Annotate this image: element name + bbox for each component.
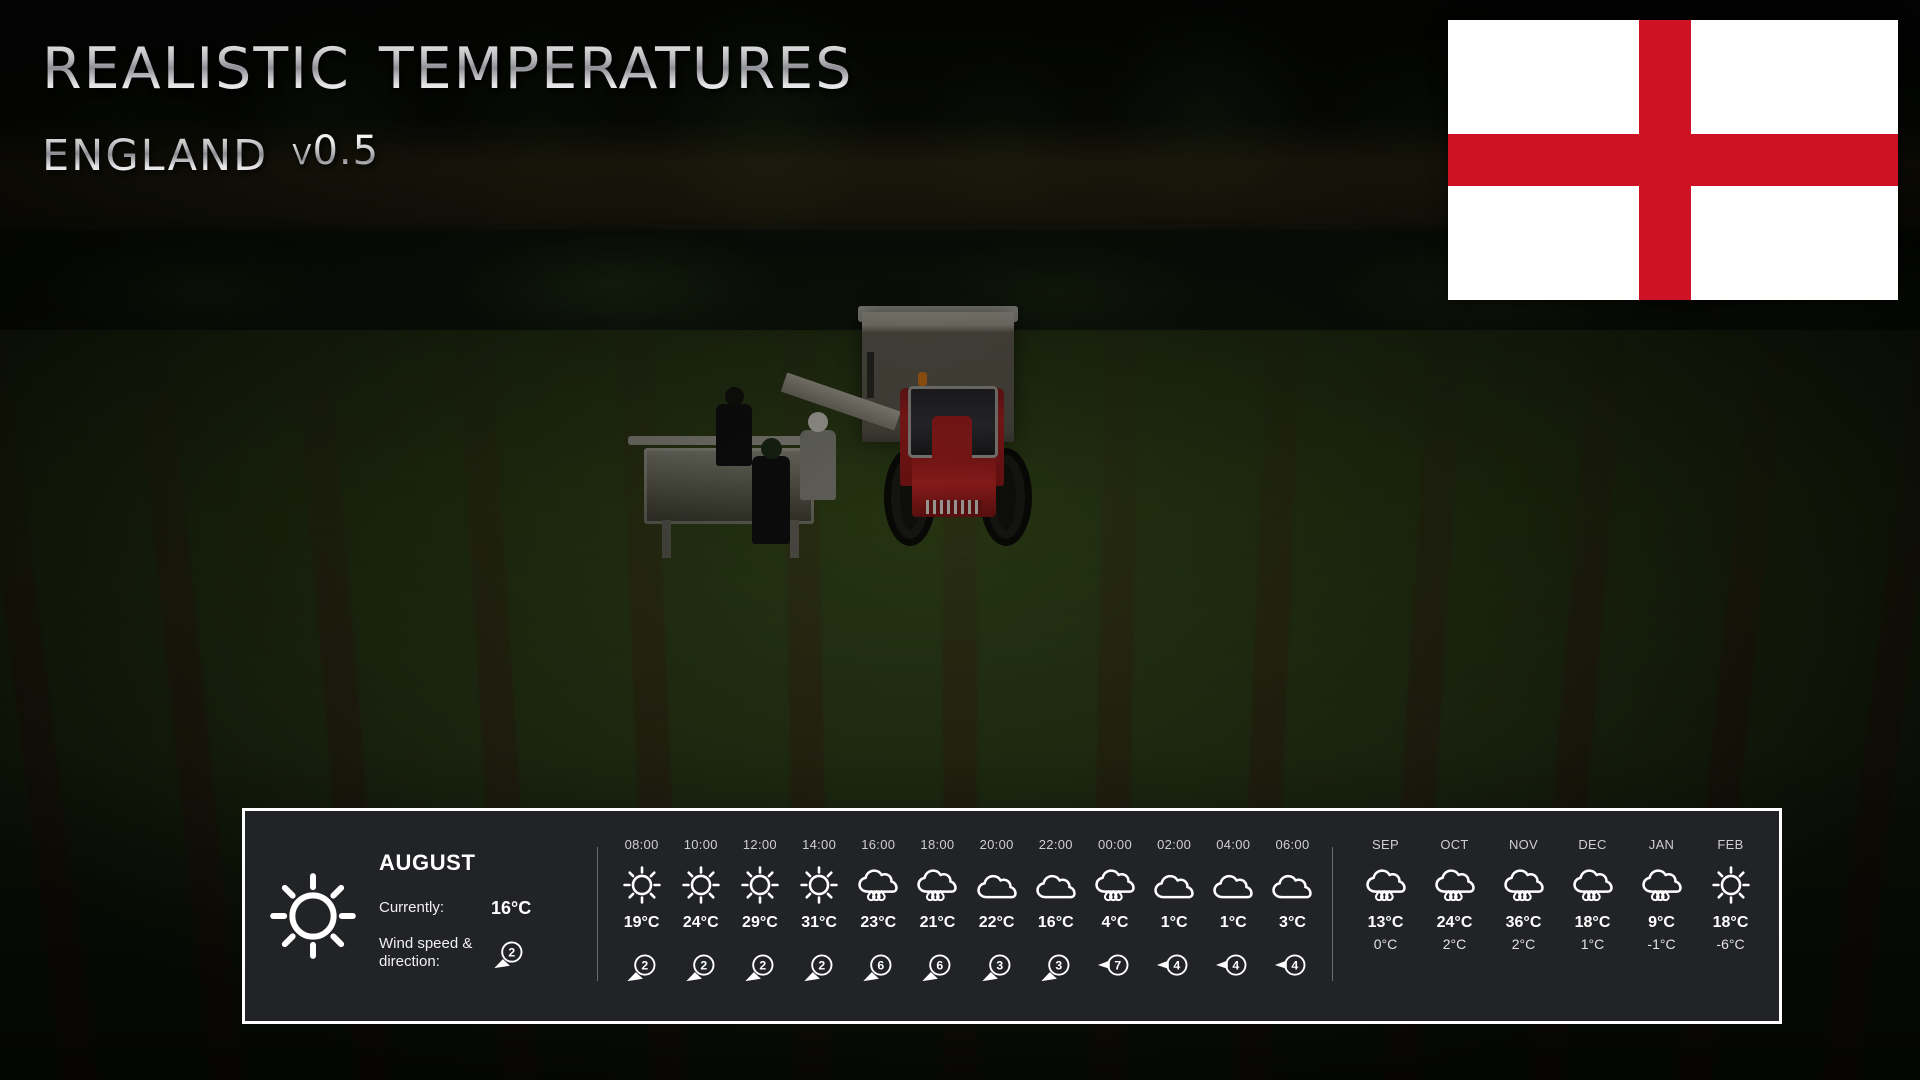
title-block: Realistic Temperatures England v0.5 (42, 18, 853, 180)
svg-text:3: 3 (1055, 959, 1062, 973)
cloud-icon (1035, 862, 1077, 908)
flag-vertical-bar (1639, 20, 1691, 300)
monthly-month-label: FEB (1717, 837, 1743, 852)
rain-icon (857, 862, 899, 908)
hourly-time-label: 04:00 (1216, 837, 1250, 852)
svg-text:3: 3 (996, 959, 1003, 973)
hourly-temperature: 22°C (979, 914, 1015, 932)
hourly-temperature: 4°C (1102, 914, 1129, 932)
svg-text:2: 2 (508, 945, 515, 959)
hourly-time-label: 10:00 (684, 837, 718, 852)
monthly-month-label: NOV (1509, 837, 1538, 852)
flag-england-icon (1448, 20, 1898, 300)
svg-text:6: 6 (937, 959, 944, 973)
hourly-time-label: 22:00 (1039, 837, 1073, 852)
hourly-temperature: 19°C (624, 914, 660, 932)
hourly-time-label: 20:00 (980, 837, 1014, 852)
hourly-time-label: 06:00 (1275, 837, 1309, 852)
hourly-forecast-item[interactable]: 04:001°C4 (1204, 837, 1263, 984)
monthly-low-temperature: 0°C (1374, 936, 1398, 952)
rain-icon (1094, 862, 1136, 908)
rain-icon (1641, 862, 1683, 908)
current-conditions-section: AUGUST Currently: 16°C Wind speed & dire… (245, 811, 597, 1021)
sun-icon (680, 862, 722, 908)
svg-text:2: 2 (819, 959, 826, 973)
cloud-icon (976, 862, 1018, 908)
hourly-temperature: 3°C (1279, 914, 1306, 932)
monthly-forecast-item[interactable]: JAN9°C-1°C (1627, 837, 1696, 952)
hourly-wind-indicator: 2 (624, 948, 660, 984)
hourly-forecast-list: 08:0019°C210:0024°C212:0029°C214:0031°C2… (598, 811, 1332, 1021)
hourly-forecast-item[interactable]: 08:0019°C2 (612, 837, 671, 984)
svg-text:2: 2 (700, 959, 707, 973)
hourly-temperature: 16°C (1038, 914, 1074, 932)
monthly-low-temperature: -6°C (1716, 936, 1744, 952)
hourly-forecast-item[interactable]: 16:0023°C6 (849, 837, 908, 984)
monthly-forecast-item[interactable]: FEB18°C-6°C (1696, 837, 1765, 952)
hourly-wind-indicator: 2 (742, 948, 778, 984)
monthly-forecast-item[interactable]: OCT24°C2°C (1420, 837, 1489, 952)
version-label: v0.5 (292, 128, 379, 180)
hourly-temperature: 29°C (742, 914, 778, 932)
monthly-forecast-item[interactable]: DEC18°C1°C (1558, 837, 1627, 952)
sun-icon (739, 862, 781, 908)
monthly-forecast-list: SEP13°C0°COCT24°C2°CNOV36°C2°CDEC18°C1°C… (1333, 811, 1779, 1021)
hourly-forecast-item[interactable]: 02:001°C4 (1145, 837, 1204, 984)
monthly-low-temperature: 2°C (1443, 936, 1467, 952)
monthly-month-label: DEC (1578, 837, 1606, 852)
rain-icon (1503, 862, 1545, 908)
hourly-forecast-item[interactable]: 14:0031°C2 (790, 837, 849, 984)
hourly-temperature: 1°C (1161, 914, 1188, 932)
sun-icon (621, 862, 663, 908)
hourly-temperature: 21°C (920, 914, 956, 932)
page-title: Realistic Temperatures (42, 18, 853, 104)
current-weather-icon (257, 868, 369, 964)
hourly-wind-indicator: 4 (1156, 948, 1192, 984)
hourly-wind-indicator: 4 (1215, 948, 1251, 984)
monthly-low-temperature: 2°C (1512, 936, 1536, 952)
monthly-low-temperature: 1°C (1581, 936, 1605, 952)
rain-icon (916, 862, 958, 908)
monthly-low-temperature: -1°C (1647, 936, 1675, 952)
svg-text:4: 4 (1233, 959, 1240, 973)
current-wind-indicator: 2 (491, 935, 527, 971)
hourly-forecast-item[interactable]: 00:004°C7 (1085, 837, 1144, 984)
hourly-time-label: 18:00 (920, 837, 954, 852)
hourly-forecast-item[interactable]: 20:0022°C3 (967, 837, 1026, 984)
hourly-temperature: 23°C (860, 914, 896, 932)
hourly-temperature: 1°C (1220, 914, 1247, 932)
hourly-forecast-item[interactable]: 06:003°C4 (1263, 837, 1322, 984)
svg-text:4: 4 (1174, 959, 1181, 973)
current-info: AUGUST Currently: 16°C Wind speed & dire… (379, 846, 531, 987)
svg-text:6: 6 (878, 959, 885, 973)
hourly-wind-indicator: 7 (1097, 948, 1133, 984)
wind-label: Wind speed & direction: (379, 935, 491, 971)
cloud-icon (1212, 862, 1254, 908)
hourly-time-label: 12:00 (743, 837, 777, 852)
hourly-time-label: 16:00 (861, 837, 895, 852)
monthly-forecast-item[interactable]: SEP13°C0°C (1351, 837, 1420, 952)
monthly-forecast-item[interactable]: NOV36°C2°C (1489, 837, 1558, 952)
monthly-high-temperature: 24°C (1437, 914, 1473, 932)
hourly-forecast-item[interactable]: 18:0021°C6 (908, 837, 967, 984)
currently-temperature: 16°C (491, 898, 531, 919)
cloud-icon (1153, 862, 1195, 908)
svg-text:4: 4 (1292, 959, 1299, 973)
currently-label: Currently: (379, 899, 491, 917)
hourly-wind-indicator: 6 (919, 948, 955, 984)
rain-icon (1434, 862, 1476, 908)
hourly-wind-indicator: 2 (801, 948, 837, 984)
monthly-high-temperature: 9°C (1648, 914, 1675, 932)
monthly-month-label: OCT (1440, 837, 1468, 852)
hourly-time-label: 08:00 (625, 837, 659, 852)
monthly-month-label: JAN (1649, 837, 1674, 852)
svg-text:2: 2 (759, 959, 766, 973)
weather-panel: AUGUST Currently: 16°C Wind speed & dire… (242, 808, 1782, 1024)
subtitle-row: England v0.5 (42, 118, 853, 180)
hourly-temperature: 31°C (801, 914, 837, 932)
rain-icon (1572, 862, 1614, 908)
country-name: England (42, 118, 268, 180)
hourly-wind-indicator: 2 (683, 948, 719, 984)
monthly-high-temperature: 18°C (1575, 914, 1611, 932)
monthly-high-temperature: 36°C (1506, 914, 1542, 932)
monthly-high-temperature: 18°C (1713, 914, 1749, 932)
hourly-time-label: 00:00 (1098, 837, 1132, 852)
app-root: Realistic Temperatures England v0.5 AUGU… (0, 0, 1920, 1080)
rain-icon (1365, 862, 1407, 908)
hourly-wind-indicator: 6 (860, 948, 896, 984)
hourly-temperature: 24°C (683, 914, 719, 932)
hourly-forecast-item[interactable]: 12:0029°C2 (730, 837, 789, 984)
hourly-forecast-item[interactable]: 10:0024°C2 (671, 837, 730, 984)
hourly-wind-indicator: 4 (1274, 948, 1310, 984)
hourly-forecast-item[interactable]: 22:0016°C3 (1026, 837, 1085, 984)
hourly-wind-indicator: 3 (979, 948, 1015, 984)
cloud-icon (1271, 862, 1313, 908)
monthly-month-label: SEP (1372, 837, 1399, 852)
current-month-label: AUGUST (379, 850, 531, 876)
sun-icon (798, 862, 840, 908)
svg-text:2: 2 (641, 959, 648, 973)
svg-text:7: 7 (1114, 959, 1121, 973)
wind-row: Wind speed & direction: 2 (379, 935, 531, 971)
hourly-time-label: 14:00 (802, 837, 836, 852)
hourly-wind-indicator: 3 (1038, 948, 1074, 984)
sun-icon (1710, 862, 1752, 908)
currently-row: Currently: 16°C (379, 898, 531, 919)
monthly-high-temperature: 13°C (1368, 914, 1404, 932)
hourly-time-label: 02:00 (1157, 837, 1191, 852)
